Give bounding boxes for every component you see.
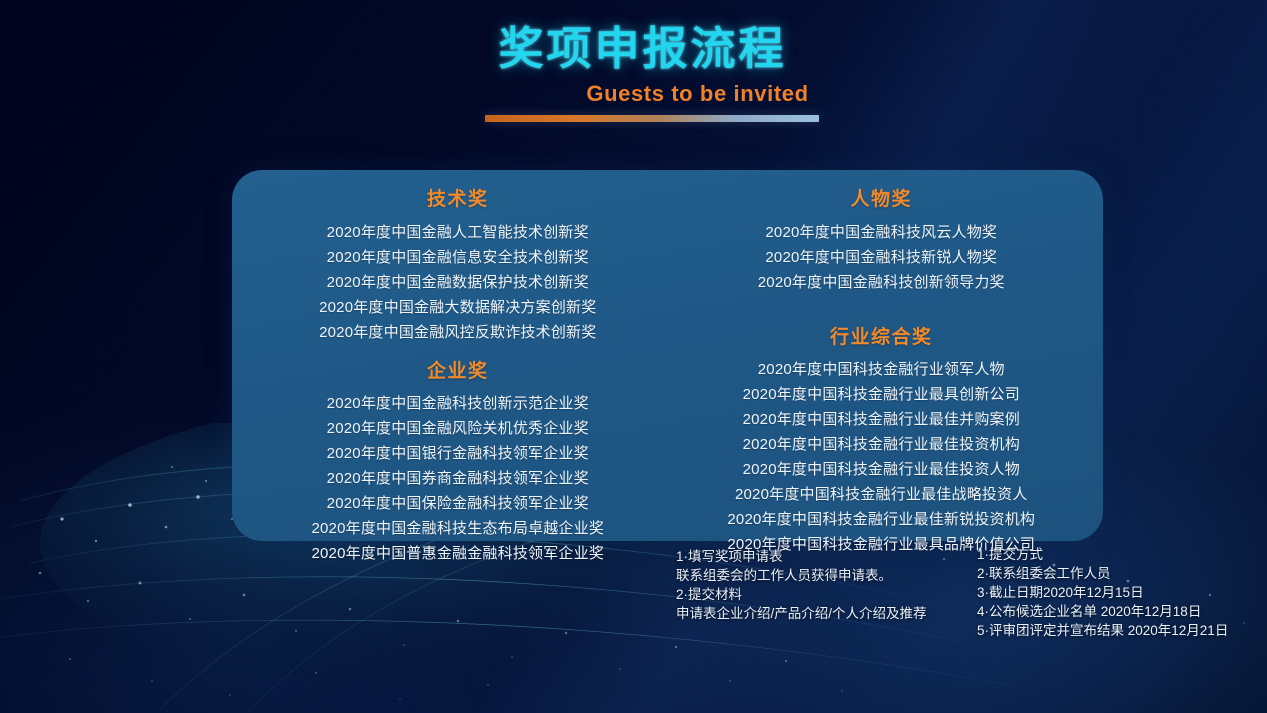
list-item: 2020年度中国保险金融科技领军企业奖: [246, 491, 670, 516]
award-list-tech: 2020年度中国金融人工智能技术创新奖 2020年度中国金融信息安全技术创新奖 …: [246, 220, 670, 345]
note-line: 1·提交方式: [977, 545, 1228, 564]
award-list-industry: 2020年度中国科技金融行业领军人物 2020年度中国科技金融行业最具创新公司 …: [670, 357, 1094, 557]
section-heading-tech: 技术奖: [246, 184, 670, 211]
section-heading-industry: 行业综合奖: [670, 322, 1094, 349]
list-item: 2020年度中国金融大数据解决方案创新奖: [246, 295, 670, 320]
bottom-notes: 1·填写奖项申请表 联系组委会的工作人员获得申请表。 2·提交材料 申请表企业介…: [0, 547, 1267, 667]
awards-column-right: 人物奖 2020年度中国金融科技风云人物奖 2020年度中国金融科技新锐人物奖 …: [670, 170, 1104, 541]
note-line: 4·公布候选企业名单 2020年12月18日: [977, 602, 1228, 621]
slide-stage: 奖项申报流程 Guests to be invited 技术奖 2020年度中国…: [0, 0, 1267, 713]
list-item: 2020年度中国金融信息安全技术创新奖: [246, 245, 670, 270]
note-line: 1·填写奖项申请表: [676, 547, 927, 566]
title-underline-bar: [485, 115, 819, 122]
list-item: 2020年度中国科技金融行业最佳投资机构: [670, 432, 1094, 457]
section-heading-corp: 企业奖: [246, 356, 670, 383]
list-item: 2020年度中国科技金融行业最具创新公司: [670, 382, 1094, 407]
list-item: 2020年度中国科技金融行业最佳投资人物: [670, 457, 1094, 482]
list-item: 2020年度中国金融人工智能技术创新奖: [246, 220, 670, 245]
note-line: 3·截止日期2020年12月15日: [977, 583, 1228, 602]
process-steps-left: 1·填写奖项申请表 联系组委会的工作人员获得申请表。 2·提交材料 申请表企业介…: [676, 547, 927, 623]
list-item: 2020年度中国科技金融行业最佳并购案例: [670, 407, 1094, 432]
note-line: 2·提交材料: [676, 585, 927, 604]
note-line: 5·评审团评定并宣布结果 2020年12月21日: [977, 621, 1228, 640]
list-item: 2020年度中国券商金融科技领军企业奖: [246, 466, 670, 491]
award-list-person: 2020年度中国金融科技风云人物奖 2020年度中国金融科技新锐人物奖 2020…: [670, 220, 1094, 295]
note-line: 申请表企业介绍/产品介绍/个人介绍及推荐: [676, 604, 927, 623]
note-line: 2·联系组委会工作人员: [977, 564, 1228, 583]
page-subtitle: Guests to be invited: [0, 81, 1267, 107]
list-item: 2020年度中国科技金融行业最佳战略投资人: [670, 482, 1094, 507]
award-list-corp: 2020年度中国金融科技创新示范企业奖 2020年度中国金融风险关机优秀企业奖 …: [246, 391, 670, 566]
awards-panel: 技术奖 2020年度中国金融人工智能技术创新奖 2020年度中国金融信息安全技术…: [232, 170, 1103, 541]
section-heading-person: 人物奖: [670, 184, 1094, 211]
list-item: 2020年度中国金融科技生态布局卓越企业奖: [246, 516, 670, 541]
process-steps-right: 1·提交方式 2·联系组委会工作人员 3·截止日期2020年12月15日 4·公…: [977, 545, 1228, 640]
list-item: 2020年度中国科技金融行业领军人物: [670, 357, 1094, 382]
list-item: 2020年度中国金融数据保护技术创新奖: [246, 270, 670, 295]
page-title: 奖项申报流程: [0, 22, 1267, 75]
list-item: 2020年度中国银行金融科技领军企业奖: [246, 441, 670, 466]
list-item: 2020年度中国金融科技风云人物奖: [670, 220, 1094, 245]
note-line: 联系组委会的工作人员获得申请表。: [676, 566, 927, 585]
list-item: 2020年度中国金融风险关机优秀企业奖: [246, 416, 670, 441]
slide-header: 奖项申报流程 Guests to be invited: [0, 22, 1267, 122]
list-item: 2020年度中国金融科技新锐人物奖: [670, 245, 1094, 270]
list-item: 2020年度中国金融科技创新领导力奖: [670, 270, 1094, 295]
awards-column-left: 技术奖 2020年度中国金融人工智能技术创新奖 2020年度中国金融信息安全技术…: [232, 170, 670, 541]
list-item: 2020年度中国科技金融行业最佳新锐投资机构: [670, 507, 1094, 532]
list-item: 2020年度中国金融风控反欺诈技术创新奖: [246, 320, 670, 345]
list-item: 2020年度中国金融科技创新示范企业奖: [246, 391, 670, 416]
